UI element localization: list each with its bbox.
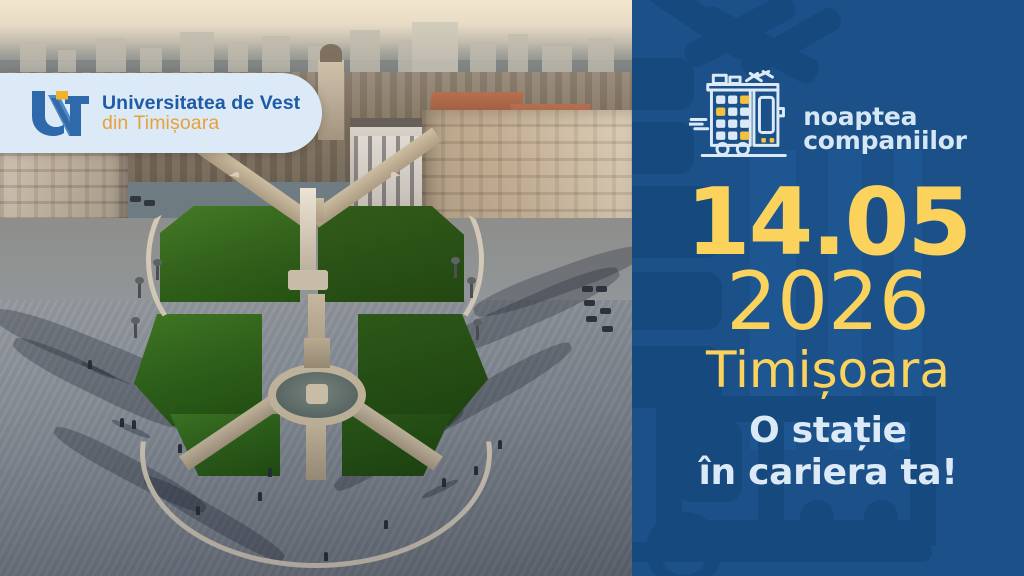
tagline-line-2: în cariera ta!	[632, 452, 1024, 494]
fountain-steps	[304, 338, 330, 368]
noaptea-companiilor-logo: noaptea companiilor	[632, 66, 1024, 162]
info-panel: noaptea companiilor 14.05 2026 Timișoara…	[632, 0, 1024, 576]
park-lamp	[156, 264, 159, 280]
holy-trinity-monument	[300, 188, 316, 280]
parked-vehicles-top	[130, 196, 170, 216]
church-tower	[318, 60, 344, 140]
pedestrian	[324, 552, 328, 561]
fountain-center	[306, 384, 328, 404]
monument-base	[288, 270, 328, 290]
pedestrian	[132, 420, 136, 429]
pedestrian	[268, 468, 272, 477]
pedestrian	[178, 444, 182, 453]
poster-canvas: Universitatea de Vest din Timișoara	[0, 0, 1024, 576]
uvt-logo-badge: Universitatea de Vest din Timișoara	[0, 73, 322, 153]
pedestrian	[258, 492, 262, 501]
logo-word-companiilor: companiilor	[803, 129, 967, 153]
parked-vehicles	[580, 286, 632, 346]
panel-content: noaptea companiilor 14.05 2026 Timișoara…	[632, 0, 1024, 576]
tagline-line-1: O stație	[632, 410, 1024, 452]
park-lamp	[138, 282, 141, 298]
tram-window-grid	[716, 96, 749, 140]
uvt-logo-mark	[28, 88, 92, 138]
event-date-year: 2026	[632, 262, 1024, 342]
uvt-line2: din Timișoara	[102, 113, 300, 133]
lawn-w	[134, 314, 262, 426]
noaptea-companiilor-wordmark: noaptea companiilor	[803, 75, 967, 153]
pedestrian	[196, 506, 200, 515]
pedestrian	[474, 466, 478, 475]
park-lamp	[470, 282, 473, 298]
event-tagline: O stație în cariera ta!	[632, 410, 1024, 495]
uvt-logo-text: Universitatea de Vest din Timișoara	[102, 93, 300, 134]
park-lawn-area	[118, 198, 518, 498]
uvt-line1: Universitatea de Vest	[102, 93, 300, 113]
tram-building-icon	[689, 66, 793, 162]
event-city: Timișoara	[632, 345, 1024, 395]
pedestrian	[498, 440, 502, 449]
pedestrian	[384, 520, 388, 529]
park-lamp	[134, 322, 137, 338]
lawn-e	[358, 314, 488, 426]
park-lamp	[454, 262, 457, 278]
park-lamp	[476, 324, 479, 340]
